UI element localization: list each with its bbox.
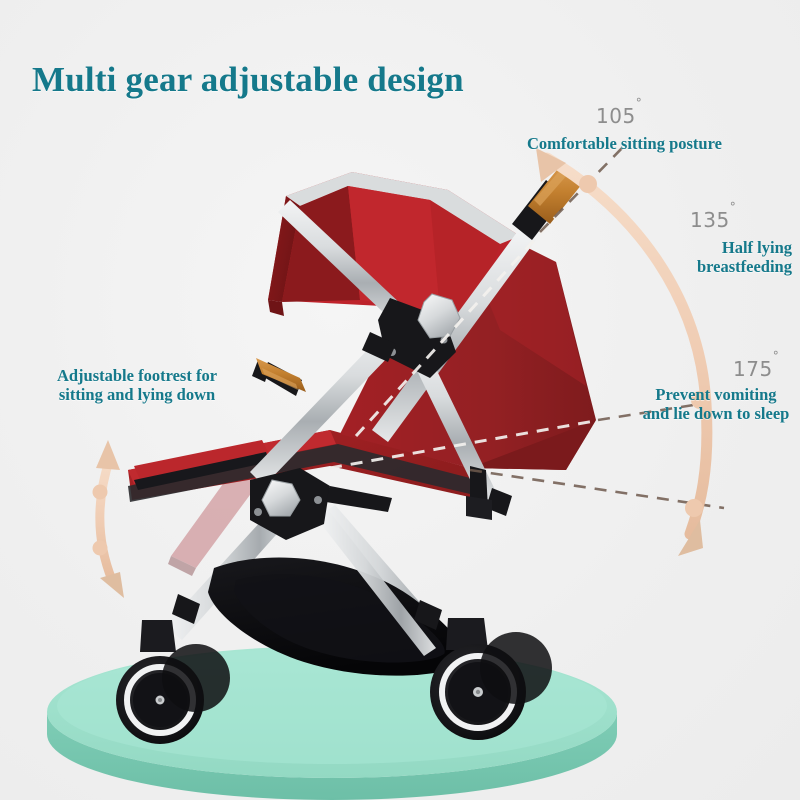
footrest bbox=[134, 440, 270, 490]
label-comfortable-sitting-posture: Comfortable sitting posture bbox=[527, 134, 722, 153]
wheel-front bbox=[116, 620, 204, 744]
angle-value-135: 135° bbox=[690, 208, 736, 232]
footrest-ghost bbox=[168, 470, 258, 576]
stroller-frame-lower bbox=[165, 496, 470, 676]
footrest-arc-arrow bbox=[93, 440, 125, 598]
handlebar-grip bbox=[512, 166, 582, 240]
wheel-far-pair bbox=[162, 632, 552, 712]
angle-value-175: 175° bbox=[733, 357, 779, 381]
label-prevent-vomiting-line1: Prevent vomiting bbox=[632, 385, 800, 404]
label-prevent-vomiting: Prevent vomiting and lie down to sleep bbox=[632, 385, 800, 424]
canopy bbox=[268, 172, 520, 330]
armrest-grip bbox=[252, 358, 306, 396]
seat-back bbox=[340, 210, 596, 470]
recline-arc-arrow bbox=[536, 148, 709, 556]
label-adjustable-footrest: Adjustable footrest for sitting and lyin… bbox=[24, 366, 250, 405]
wheel-rear bbox=[430, 618, 526, 740]
label-half-lying-line2: breastfeeding bbox=[600, 257, 792, 276]
label-half-lying-line1: Half lying bbox=[600, 238, 792, 257]
page-title: Multi gear adjustable design bbox=[32, 60, 464, 100]
angle-value-105: 105° bbox=[596, 104, 642, 128]
label-footrest-line2: sitting and lying down bbox=[24, 385, 250, 404]
label-footrest-line1: Adjustable footrest for bbox=[24, 366, 250, 385]
infographic-canvas: Multi gear adjustable design 105° Comfor… bbox=[0, 0, 800, 800]
center-hub bbox=[250, 468, 392, 540]
seat-base bbox=[128, 430, 474, 502]
label-prevent-vomiting-line2: and lie down to sleep bbox=[632, 404, 800, 423]
stroller-frame-upper bbox=[250, 200, 536, 508]
label-half-lying-breastfeeding: Half lying breastfeeding bbox=[600, 238, 792, 277]
recline-hinge bbox=[378, 294, 460, 378]
seat-buckle bbox=[466, 466, 492, 520]
mint-platform bbox=[47, 646, 617, 800]
